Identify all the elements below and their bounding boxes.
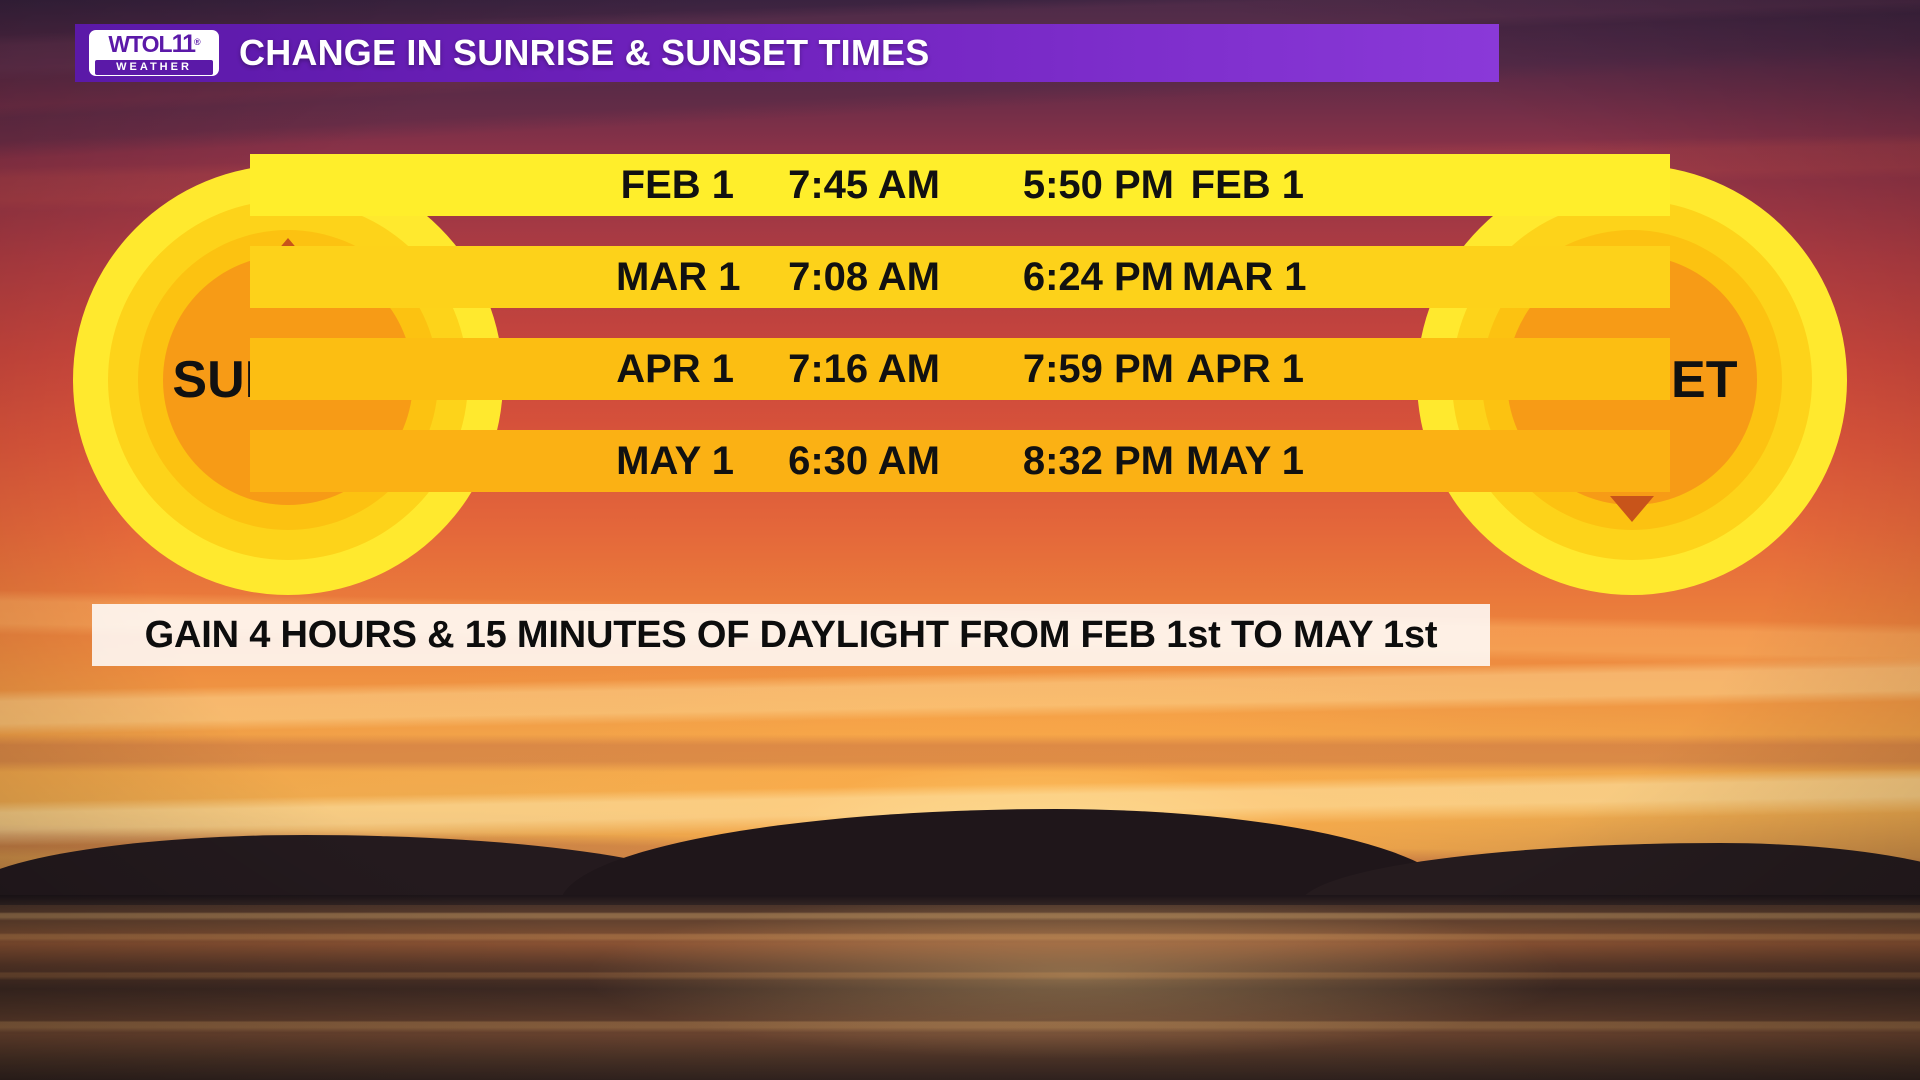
row-date-right: MAY 1: [1174, 439, 1304, 484]
row-date-left: MAR 1: [616, 255, 734, 300]
logo-subtitle: WEATHER: [95, 60, 213, 75]
page-title: CHANGE IN SUNRISE & SUNSET TIMES: [239, 32, 929, 74]
row-date-right: FEB 1: [1174, 163, 1304, 208]
sunrise-sunset-graphic: SUNRISE SUNSET FEB 1 7:45 AM 5:50 PM FEB…: [0, 120, 1920, 640]
row-sunset-time: 6:24 PM: [944, 255, 1174, 300]
table-row: MAR 1 7:08 AM 6:24 PM MAR 1: [250, 246, 1670, 308]
table-row: FEB 1 7:45 AM 5:50 PM FEB 1: [250, 154, 1670, 216]
registered-mark-icon: ®: [194, 38, 200, 47]
wtol11-weather-logo: WTOL 11 ® WEATHER: [89, 30, 219, 76]
row-sunrise-time: 7:08 AM: [734, 255, 944, 300]
row-sunrise-time: 6:30 AM: [734, 439, 944, 484]
row-sunset-time: 7:59 PM: [944, 347, 1174, 392]
row-date-left: APR 1: [616, 347, 734, 392]
row-date-right: MAR 1: [1174, 255, 1304, 300]
row-date-left: FEB 1: [616, 163, 734, 208]
logo-call-letters: WTOL: [108, 33, 171, 56]
table-row: MAY 1 6:30 AM 8:32 PM MAY 1: [250, 430, 1670, 492]
logo-wordmark: WTOL 11 ®: [108, 32, 199, 58]
row-sunset-time: 5:50 PM: [944, 163, 1174, 208]
summary-banner: GAIN 4 HOURS & 15 MINUTES OF DAYLIGHT FR…: [92, 604, 1490, 666]
row-date-left: MAY 1: [616, 439, 734, 484]
logo-channel-number: 11: [172, 32, 194, 57]
row-sunrise-time: 7:16 AM: [734, 347, 944, 392]
row-date-right: APR 1: [1174, 347, 1304, 392]
row-sunrise-time: 7:45 AM: [734, 163, 944, 208]
row-sunset-time: 8:32 PM: [944, 439, 1174, 484]
summary-banner-text: GAIN 4 HOURS & 15 MINUTES OF DAYLIGHT FR…: [145, 614, 1438, 657]
triangle-down-icon: [1610, 496, 1654, 522]
table-row: APR 1 7:16 AM 7:59 PM APR 1: [250, 338, 1670, 400]
header-bar: WTOL 11 ® WEATHER CHANGE IN SUNRISE & SU…: [75, 24, 1499, 82]
